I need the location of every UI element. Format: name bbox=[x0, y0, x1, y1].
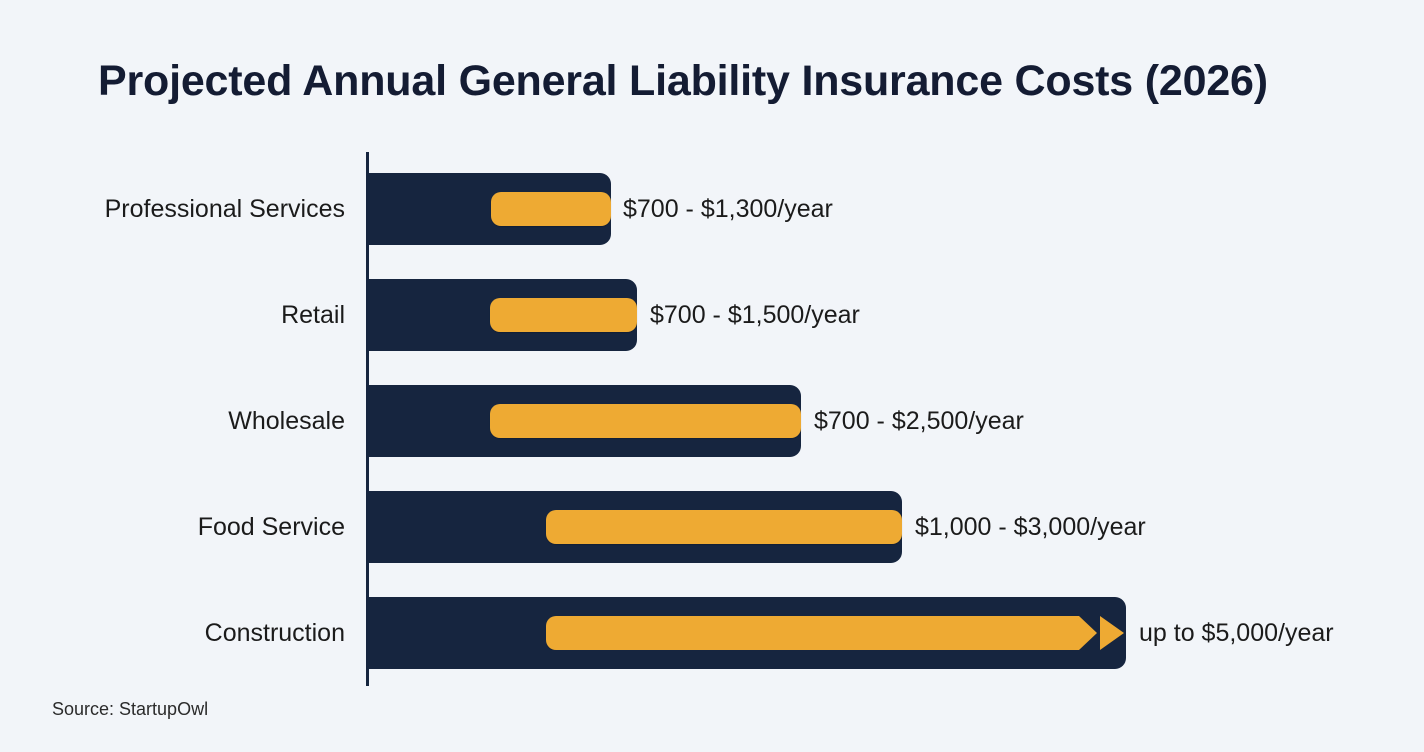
category-label-wholesale: Wholesale bbox=[20, 385, 345, 457]
bar-value-professional-services bbox=[491, 192, 611, 226]
bar-track bbox=[367, 597, 1126, 669]
bar-value-food-service bbox=[546, 510, 902, 544]
value-label-wholesale: $700 - $2,500/year bbox=[814, 385, 1024, 457]
bar-track bbox=[367, 173, 611, 245]
chart-title: Projected Annual General Liability Insur… bbox=[98, 48, 1338, 114]
category-label-professional-services: Professional Services bbox=[20, 173, 345, 245]
bar-track bbox=[367, 279, 637, 351]
bar-row[interactable]: Professional Services $700 - $1,300/year bbox=[0, 173, 1424, 245]
category-label-construction: Construction bbox=[20, 597, 345, 669]
bar-track bbox=[367, 491, 902, 563]
bar-row[interactable]: Food Service $1,000 - $3,000/year bbox=[0, 491, 1424, 563]
bar-value-wholesale bbox=[490, 404, 801, 438]
bar-value-construction bbox=[546, 616, 1097, 650]
bar-row[interactable]: Wholesale $700 - $2,500/year bbox=[0, 385, 1424, 457]
bar-track bbox=[367, 385, 801, 457]
bar-value-retail bbox=[490, 298, 637, 332]
chart-figure: Projected Annual General Liability Insur… bbox=[0, 0, 1424, 752]
source-note: Source: StartupOwl bbox=[52, 699, 208, 720]
arrow-right-icon bbox=[1100, 616, 1124, 650]
bar-row[interactable]: Retail $700 - $1,500/year bbox=[0, 279, 1424, 351]
plot-area: Professional Services $700 - $1,300/year… bbox=[0, 140, 1424, 700]
value-label-retail: $700 - $1,500/year bbox=[650, 279, 860, 351]
bar-row[interactable]: Construction up to $5,000/year bbox=[0, 597, 1424, 669]
category-label-food-service: Food Service bbox=[20, 491, 345, 563]
value-label-food-service: $1,000 - $3,000/year bbox=[915, 491, 1146, 563]
value-label-construction: up to $5,000/year bbox=[1139, 597, 1334, 669]
category-label-retail: Retail bbox=[20, 279, 345, 351]
value-label-professional-services: $700 - $1,300/year bbox=[623, 173, 833, 245]
